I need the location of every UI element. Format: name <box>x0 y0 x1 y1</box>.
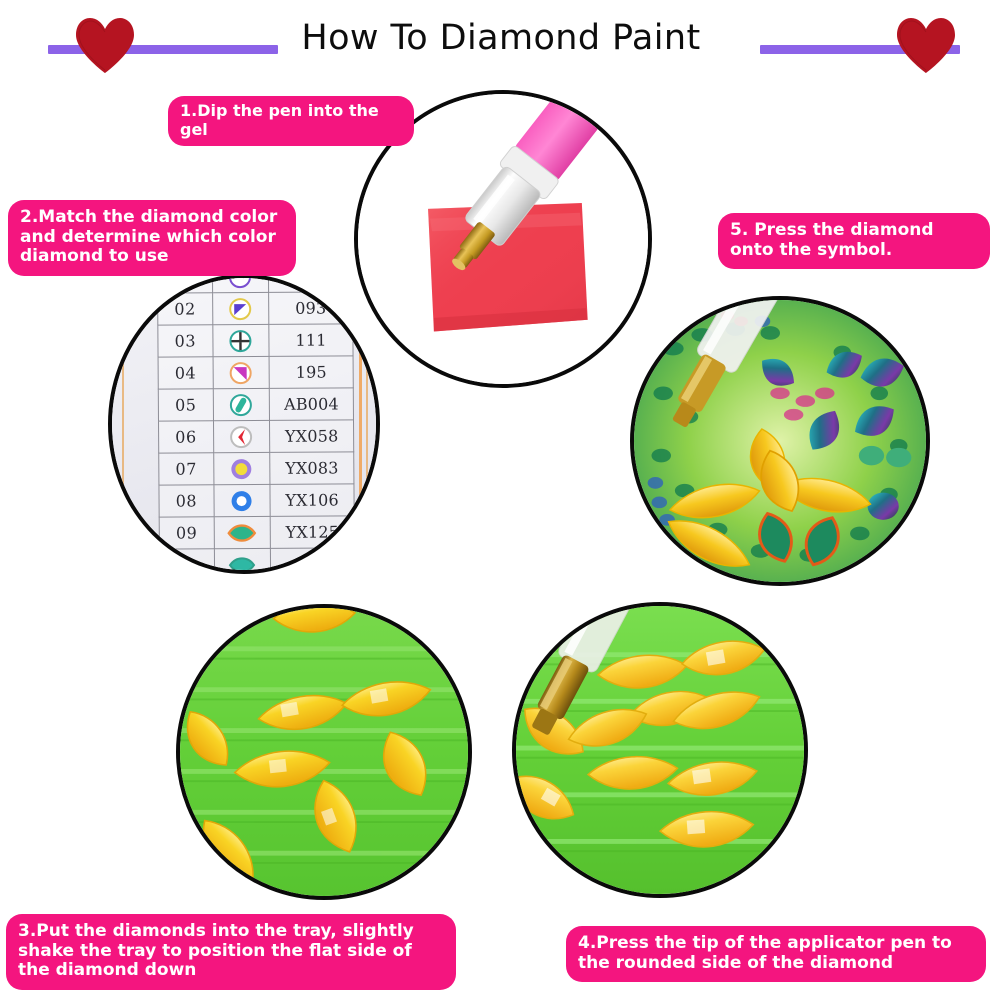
chart-row-number: 06 <box>159 421 214 453</box>
step-3-label: 3.Put the diamonds into the tray, slight… <box>6 914 456 990</box>
page-title: How To Diamond Paint <box>286 18 716 58</box>
table-row: 03 111 <box>158 324 353 357</box>
chart-row-number: 05 <box>158 389 213 421</box>
chart-row-number: 01 <box>157 274 212 293</box>
heart-icon <box>74 16 136 74</box>
chart-row-number: 02 <box>158 293 213 325</box>
table-row: 06 YX058 <box>159 420 354 453</box>
chart-row-number: 03 <box>158 325 213 357</box>
magenta-triangle-circle-icon <box>213 356 270 388</box>
teal-leaf-icon <box>214 548 271 574</box>
page-header: How To Diamond Paint <box>0 0 1001 80</box>
table-row: 07 YX083 <box>159 452 354 485</box>
chart-row-code <box>271 548 355 574</box>
step-5-photo <box>630 296 930 586</box>
pen-picking-up-diamond-from-tray-image <box>516 606 804 894</box>
chart-row-code: 111 <box>269 324 353 357</box>
chart-row-code: YX125 <box>270 516 354 549</box>
step-2-photo: 01 020 02 093 <box>108 274 380 574</box>
chart-margin-line-left <box>122 274 124 574</box>
chart-row-code: YX106 <box>270 484 354 517</box>
step-4-label: 4.Press the tip of the applicator pen to… <box>566 926 986 982</box>
chart-row-code: 020 <box>269 274 353 292</box>
table-row: 02 093 <box>158 292 353 325</box>
table-row: 01 020 <box>157 274 352 293</box>
step-2-label: 2.Match the diamond color and determine … <box>8 200 296 276</box>
step-3-photo <box>176 604 472 900</box>
page-title-text: How To Diamond Paint <box>301 18 700 58</box>
chart-row-code: YX058 <box>270 420 354 453</box>
red-arrow-circle-icon <box>213 420 270 452</box>
chart-row-number: 04 <box>158 357 213 389</box>
blue-ring-circle-icon <box>214 484 271 516</box>
table-row: 09 YX125 <box>159 516 354 549</box>
chart-row-number: 10 <box>159 549 214 574</box>
blue-triangle-circle-icon <box>212 292 269 324</box>
chart-row-code: 195 <box>269 356 353 389</box>
step-3-label-text: 3.Put the diamonds into the tray, slight… <box>18 921 414 980</box>
step-5-label-text: 5. Press the diamond onto the symbol. <box>730 220 934 260</box>
double-dot-circle-icon <box>212 274 269 293</box>
chart-row-number: 09 <box>159 517 214 549</box>
chart-row-code: 093 <box>269 292 353 325</box>
chart-row-code: YX083 <box>270 452 354 485</box>
chart-row-number: 07 <box>159 453 214 485</box>
step-5-label: 5. Press the diamond onto the symbol. <box>718 213 990 269</box>
chart-margin-line-outer <box>366 274 368 574</box>
chart-row-number: 08 <box>159 485 214 517</box>
step-1-label-text: 1.Dip the pen into the gel <box>180 101 379 139</box>
teal-slash-circle-icon <box>213 388 270 420</box>
plus-circle-icon <box>213 324 270 356</box>
yellow-dot-circle-icon <box>213 452 270 484</box>
table-row: 04 195 <box>158 356 353 389</box>
green-leaf-icon <box>214 516 271 548</box>
heart-icon <box>895 16 957 74</box>
diamond-color-chart-table: 01 020 02 093 <box>157 274 355 574</box>
placing-diamond-onto-canvas-symbol-image <box>634 300 926 582</box>
step-4-photo <box>512 602 808 898</box>
table-row: 10 <box>159 548 354 574</box>
chart-margin-line-right <box>359 274 362 574</box>
table-row: 05 AB004 <box>158 388 353 421</box>
table-row: 08 YX106 <box>159 484 354 517</box>
chart-row-code: AB004 <box>269 388 353 421</box>
step-1-label: 1.Dip the pen into the gel <box>168 96 414 146</box>
step-2-label-text: 2.Match the diamond color and determine … <box>20 207 277 266</box>
yellow-diamonds-in-green-tray-image <box>180 608 468 896</box>
step-4-label-text: 4.Press the tip of the applicator pen to… <box>578 933 952 973</box>
